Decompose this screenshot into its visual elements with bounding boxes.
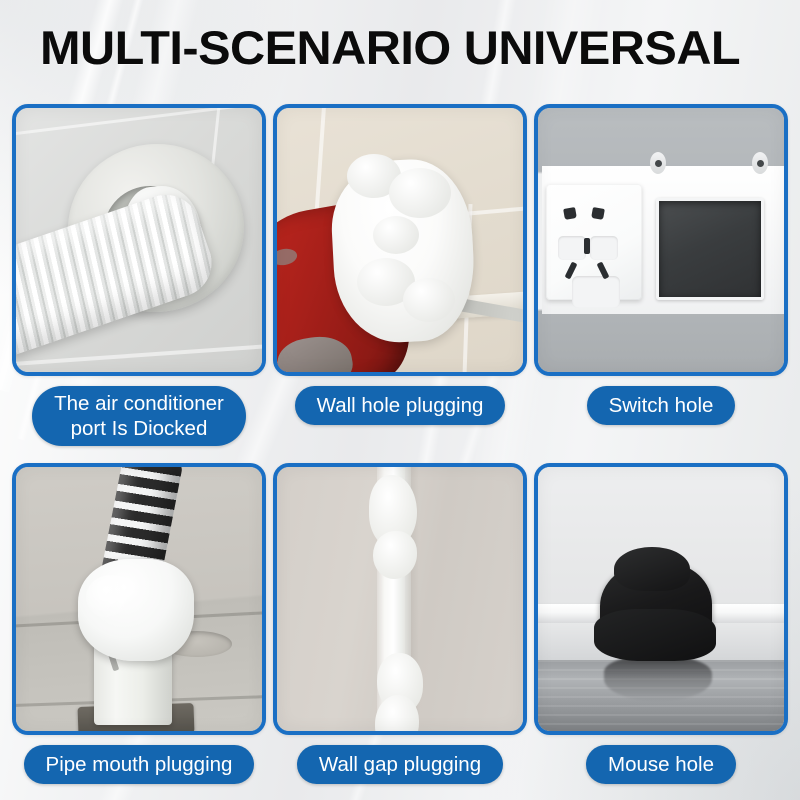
photo-illustration-ac-hose-flange [16, 108, 262, 372]
socket-recess [590, 236, 618, 260]
scenario-photo-pipe-mouth-plugging [12, 463, 266, 735]
power-socket [546, 184, 642, 300]
empty-wall-box [656, 198, 764, 300]
corrugated-hose [16, 186, 221, 359]
scenario-grid: The air conditioner port Is Diocked [12, 104, 788, 784]
poster-canvas: MULTI-SCENARIO UNIVERSAL The air conditi… [0, 0, 800, 800]
scenario-caption-wall-hole-plugging: Wall hole plugging [295, 386, 506, 425]
socket-pin-slot [584, 238, 590, 254]
socket-pin-slot [591, 207, 605, 220]
caption-line-2: port Is Diocked [71, 417, 208, 440]
black-foam-plug [600, 563, 712, 657]
socket-pin-slot [563, 207, 577, 220]
photo-illustration-red-pipe-foam [277, 108, 523, 372]
wall-seam [16, 108, 262, 137]
wall-seam [16, 341, 262, 367]
foam-bubble [373, 216, 419, 254]
photo-illustration-striped-hose-pvc [16, 467, 262, 731]
floor-reflection [604, 657, 712, 701]
scenario-card-wall-gap-plugging: Wall gap plugging [273, 463, 527, 784]
photo-illustration-socket-wallbox [538, 108, 784, 372]
foam-sealant [78, 559, 194, 661]
scenario-photo-switch-hole [534, 104, 788, 376]
scenario-photo-mouse-hole [534, 463, 788, 735]
wall-box-screw-tab [650, 152, 666, 174]
scenario-card-switch-hole: Switch hole [534, 104, 788, 446]
scenario-caption-air-conditioner-port: The air conditioner port Is Diocked [32, 386, 246, 446]
socket-recess [558, 236, 586, 260]
caption-line-1: The air conditioner [54, 392, 224, 415]
scenario-caption-wall-gap-plugging: Wall gap plugging [297, 745, 503, 784]
photo-illustration-wall-gap-bead [277, 467, 523, 731]
scenario-photo-wall-hole-plugging [273, 104, 527, 376]
photo-illustration-mouse-hole-plug [538, 467, 784, 731]
scenario-photo-air-conditioner-port [12, 104, 266, 376]
scenario-caption-mouse-hole: Mouse hole [586, 745, 736, 784]
scenario-card-mouse-hole: Mouse hole [534, 463, 788, 784]
wall-box-screw-tab [752, 152, 768, 174]
scenario-photo-wall-gap-plugging [273, 463, 527, 735]
scenario-card-air-conditioner-port: The air conditioner port Is Diocked [12, 104, 266, 446]
poster-headline: MULTI-SCENARIO UNIVERSAL [40, 22, 800, 74]
scenario-card-wall-hole-plugging: Wall hole plugging [273, 104, 527, 446]
socket-recess [572, 276, 620, 308]
scenario-caption-switch-hole: Switch hole [587, 386, 736, 425]
scenario-caption-pipe-mouth-plugging: Pipe mouth plugging [24, 745, 255, 784]
scenario-card-pipe-mouth-plugging: Pipe mouth plugging [12, 463, 266, 784]
foam-bubble [403, 278, 455, 322]
foam-bubble [389, 168, 451, 218]
